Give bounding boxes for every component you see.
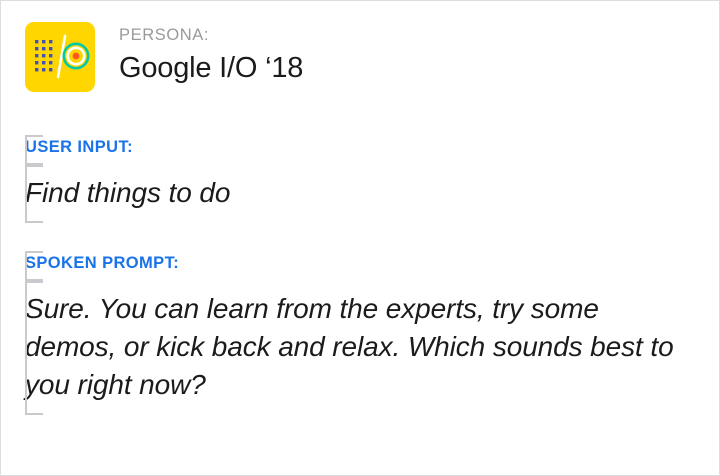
- bracket-tick-top: [25, 135, 43, 137]
- spoken-prompt-section: SPOKEN PROMPT: Sure. You can learn from …: [25, 251, 695, 415]
- spoken-prompt-kicker: SPOKEN PROMPT:: [25, 254, 695, 274]
- persona-label: PERSONA:: [119, 26, 303, 46]
- persona-card: PERSONA: Google I/O ‘18 USER INPUT: Find…: [0, 0, 720, 476]
- user-input-section: USER INPUT: Find things to do: [25, 135, 695, 223]
- user-input-text: Find things to do: [25, 174, 695, 212]
- bracket-tick-top: [25, 165, 43, 167]
- spoken-prompt-text: Sure. You can learn from the experts, tr…: [25, 290, 695, 404]
- persona-name: Google I/O ‘18: [119, 52, 303, 85]
- spoken-prompt-label-bracket: SPOKEN PROMPT:: [25, 251, 695, 281]
- persona-text-block: PERSONA: Google I/O ‘18: [119, 22, 303, 85]
- persona-header: PERSONA: Google I/O ‘18: [25, 22, 303, 92]
- bracket-tick-top: [25, 281, 43, 283]
- bracket-tick-bottom: [25, 221, 43, 223]
- bracket-tick-top: [25, 251, 43, 253]
- user-input-body-bracket: Find things to do: [25, 165, 695, 223]
- bracket-tick-bottom: [25, 413, 43, 415]
- google-io-logo-icon: [25, 22, 95, 92]
- spoken-prompt-body-bracket: Sure. You can learn from the experts, tr…: [25, 281, 695, 415]
- user-input-kicker: USER INPUT:: [25, 138, 695, 158]
- user-input-label-bracket: USER INPUT:: [25, 135, 695, 165]
